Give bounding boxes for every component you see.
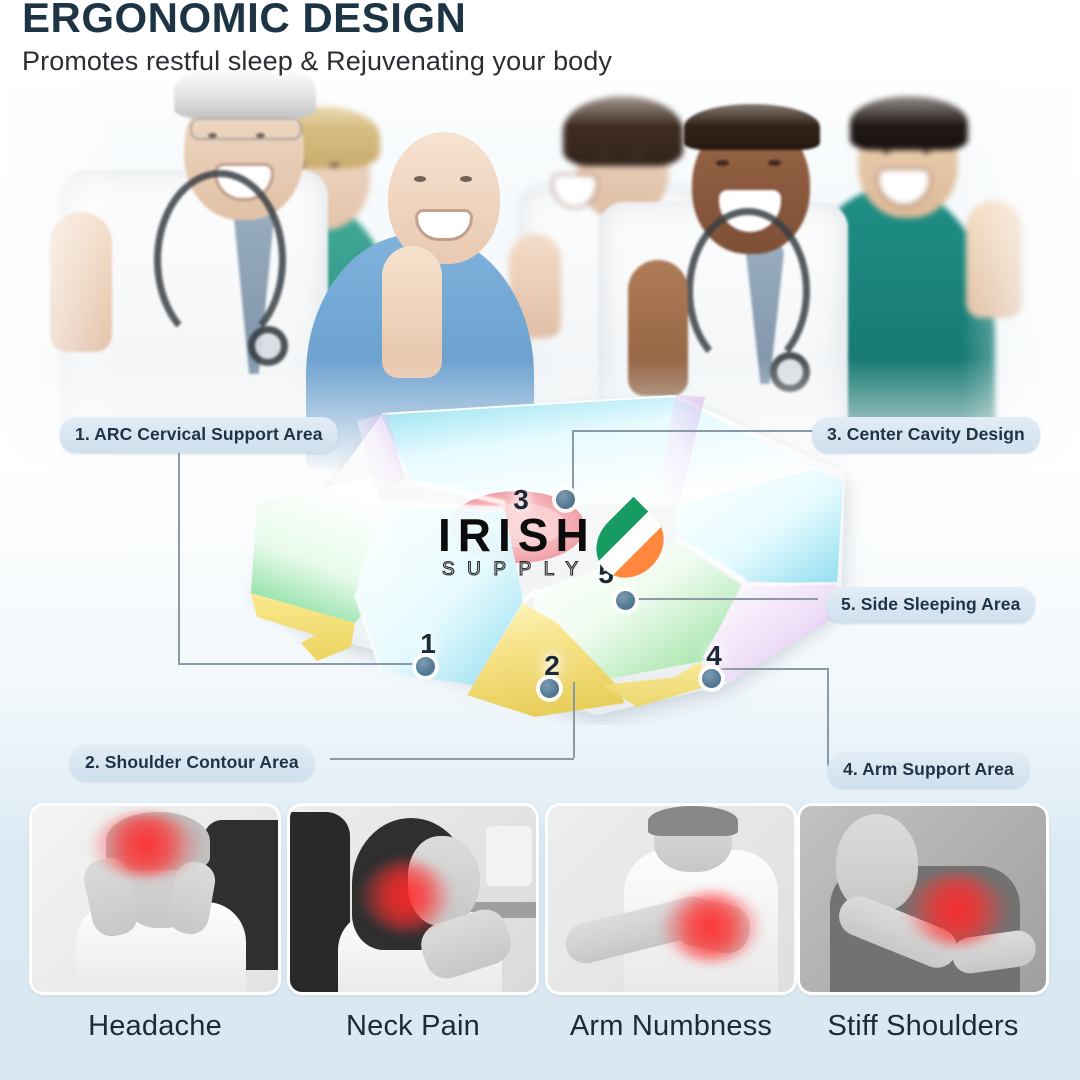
leader-line-2: [330, 682, 575, 760]
page-title: ERGONOMIC DESIGN: [22, 0, 612, 40]
callout-3-center-cavity-design[interactable]: 3. Center Cavity Design: [812, 417, 1040, 453]
callout-1-arc-cervical-support-area[interactable]: 1. ARC Cervical Support Area: [60, 417, 338, 453]
pain-indicator-neck: [362, 860, 450, 932]
callout-2-shoulder-contour-area[interactable]: 2. Shoulder Contour Area: [70, 745, 314, 781]
pain-photo-arm-numbness: [548, 806, 794, 992]
marker-5-dot: [616, 591, 635, 610]
marker-2-dot: [540, 679, 559, 698]
pain-card-headache[interactable]: Headache: [32, 806, 278, 1043]
pain-points-row: Headache Neck Pain: [0, 800, 1080, 1080]
pain-photo-headache: [32, 806, 278, 992]
header-block: ERGONOMIC DESIGN Promotes restful sleep …: [22, 0, 612, 77]
pain-photo-stiff-shoulders: [800, 806, 1046, 992]
brand-tagline: SUPPLY: [442, 560, 591, 579]
marker-1[interactable]: 1: [416, 636, 440, 676]
marker-1-dot: [416, 657, 435, 676]
pain-indicator-forehead: [92, 814, 200, 876]
leader-line-4: [720, 668, 830, 768]
marker-4-label: 4: [706, 640, 722, 672]
pain-label-headache: Headache: [32, 1010, 278, 1043]
brand-name: IRISH: [438, 512, 596, 558]
marker-4-dot: [702, 669, 721, 688]
marker-2[interactable]: 2: [540, 658, 564, 698]
page-subtitle: Promotes restful sleep & Rejuvenating yo…: [22, 46, 612, 77]
pain-label-neck-pain: Neck Pain: [290, 1010, 536, 1043]
pain-card-stiff-shoulders[interactable]: Stiff Shoulders: [800, 806, 1046, 1043]
pain-card-arm-numbness[interactable]: Arm Numbness: [548, 806, 794, 1043]
pain-photo-neck-pain: [290, 806, 536, 992]
marker-2-label: 2: [544, 650, 560, 682]
pain-indicator-shoulder: [906, 874, 1008, 946]
leader-line-1: [178, 450, 428, 665]
infographic-canvas: ERGONOMIC DESIGN Promotes restful sleep …: [0, 0, 1080, 1080]
pain-card-neck-pain[interactable]: Neck Pain: [290, 806, 536, 1043]
pain-label-stiff-shoulders: Stiff Shoulders: [800, 1010, 1046, 1043]
marker-4[interactable]: 4: [702, 648, 726, 688]
callout-4-arm-support-area[interactable]: 4. Arm Support Area: [828, 752, 1029, 788]
marker-3-dot: [556, 490, 575, 509]
leader-line-5: [628, 598, 818, 601]
marker-1-label: 1: [420, 628, 436, 660]
brand-watermark: IRISH SUPPLY: [438, 512, 648, 590]
pain-label-arm-numbness: Arm Numbness: [548, 1010, 794, 1043]
pain-indicator-forearm: [662, 892, 760, 962]
callout-5-side-sleeping-area[interactable]: 5. Side Sleeping Area: [826, 587, 1035, 623]
